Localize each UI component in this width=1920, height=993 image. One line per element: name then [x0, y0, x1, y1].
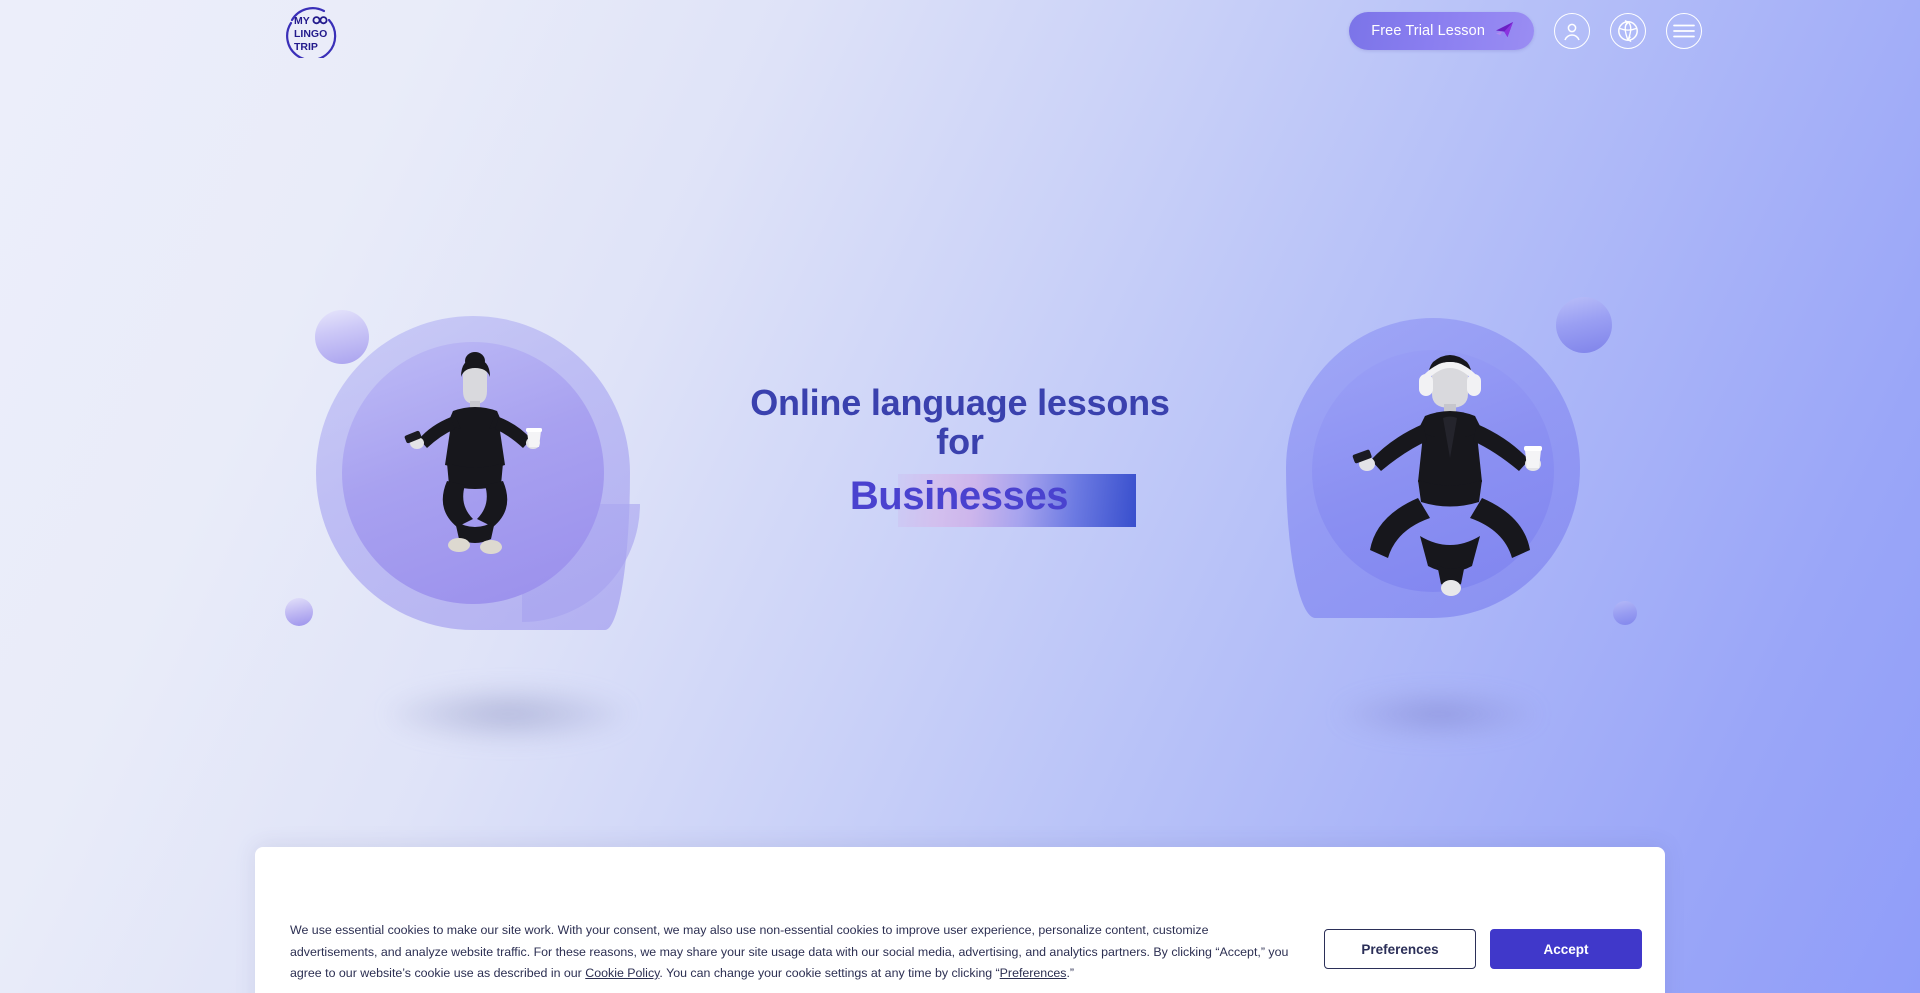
- headline-highlight-word: Businesses: [650, 465, 1270, 527]
- svg-text:MY: MY: [294, 15, 310, 27]
- figure-shadow-left: [388, 686, 628, 742]
- page-root: Online language lessons for Businesses M…: [0, 0, 1920, 993]
- free-trial-lesson-button[interactable]: Free Trial Lesson: [1349, 12, 1534, 50]
- speech-bubble-inner-left: [342, 342, 604, 604]
- hero-figure-left: [385, 345, 565, 595]
- cookie-policy-link[interactable]: Cookie Policy: [585, 966, 659, 980]
- hero-headline-block: Online language lessons for Businesses: [650, 383, 1270, 527]
- hero-figure-right: [1325, 340, 1575, 615]
- page-title: Online language lessons for: [650, 383, 1270, 461]
- free-trial-lesson-label: Free Trial Lesson: [1371, 23, 1485, 39]
- decorative-sphere-large-left: [315, 310, 369, 364]
- preferences-link[interactable]: Preferences: [1000, 966, 1067, 980]
- headline-line-1: Online language lessons: [750, 382, 1170, 423]
- globe-language-icon[interactable]: [1610, 13, 1646, 49]
- paper-plane-icon: [1495, 21, 1514, 42]
- header-actions: Free Trial Lesson: [1349, 12, 1702, 50]
- decorative-sphere-large-right: [1556, 297, 1612, 353]
- svg-text:LINGO: LINGO: [294, 28, 327, 40]
- speech-bubble-tail-left: [522, 504, 640, 622]
- headline-line-2: for: [650, 422, 1270, 461]
- cookie-consent-text: We use essential cookies to make our sit…: [290, 920, 1290, 985]
- cookie-banner-actions: Preferences Accept: [1324, 929, 1642, 969]
- speech-bubble-left: [316, 316, 630, 630]
- logo[interactable]: MY LINGO TRIP: [282, 2, 338, 58]
- speech-bubble-inner-right: [1312, 350, 1554, 592]
- speech-bubble-outer-right: [1286, 318, 1580, 618]
- hero-section: Online language lessons for Businesses: [0, 0, 1920, 993]
- preferences-button[interactable]: Preferences: [1324, 929, 1476, 969]
- speech-bubble-outer-left: [316, 316, 630, 630]
- accept-button[interactable]: Accept: [1490, 929, 1642, 969]
- decorative-sphere-small-left: [285, 598, 313, 626]
- cookie-text-part3: .”: [1066, 966, 1074, 980]
- site-header: MY LINGO TRIP Free Trial Lesson: [0, 0, 1920, 70]
- cookie-text-part2: . You can change your cookie settings at…: [659, 966, 999, 980]
- cookie-consent-banner: We use essential cookies to make our sit…: [255, 847, 1665, 993]
- speech-bubble-right: [1286, 318, 1580, 618]
- figure-shadow-right: [1338, 690, 1538, 738]
- headline-highlight-row: Businesses: [650, 465, 1270, 527]
- hamburger-menu-icon[interactable]: [1666, 13, 1702, 49]
- svg-text:TRIP: TRIP: [294, 41, 318, 53]
- decorative-sphere-small-right: [1613, 601, 1637, 625]
- user-account-icon[interactable]: [1554, 13, 1590, 49]
